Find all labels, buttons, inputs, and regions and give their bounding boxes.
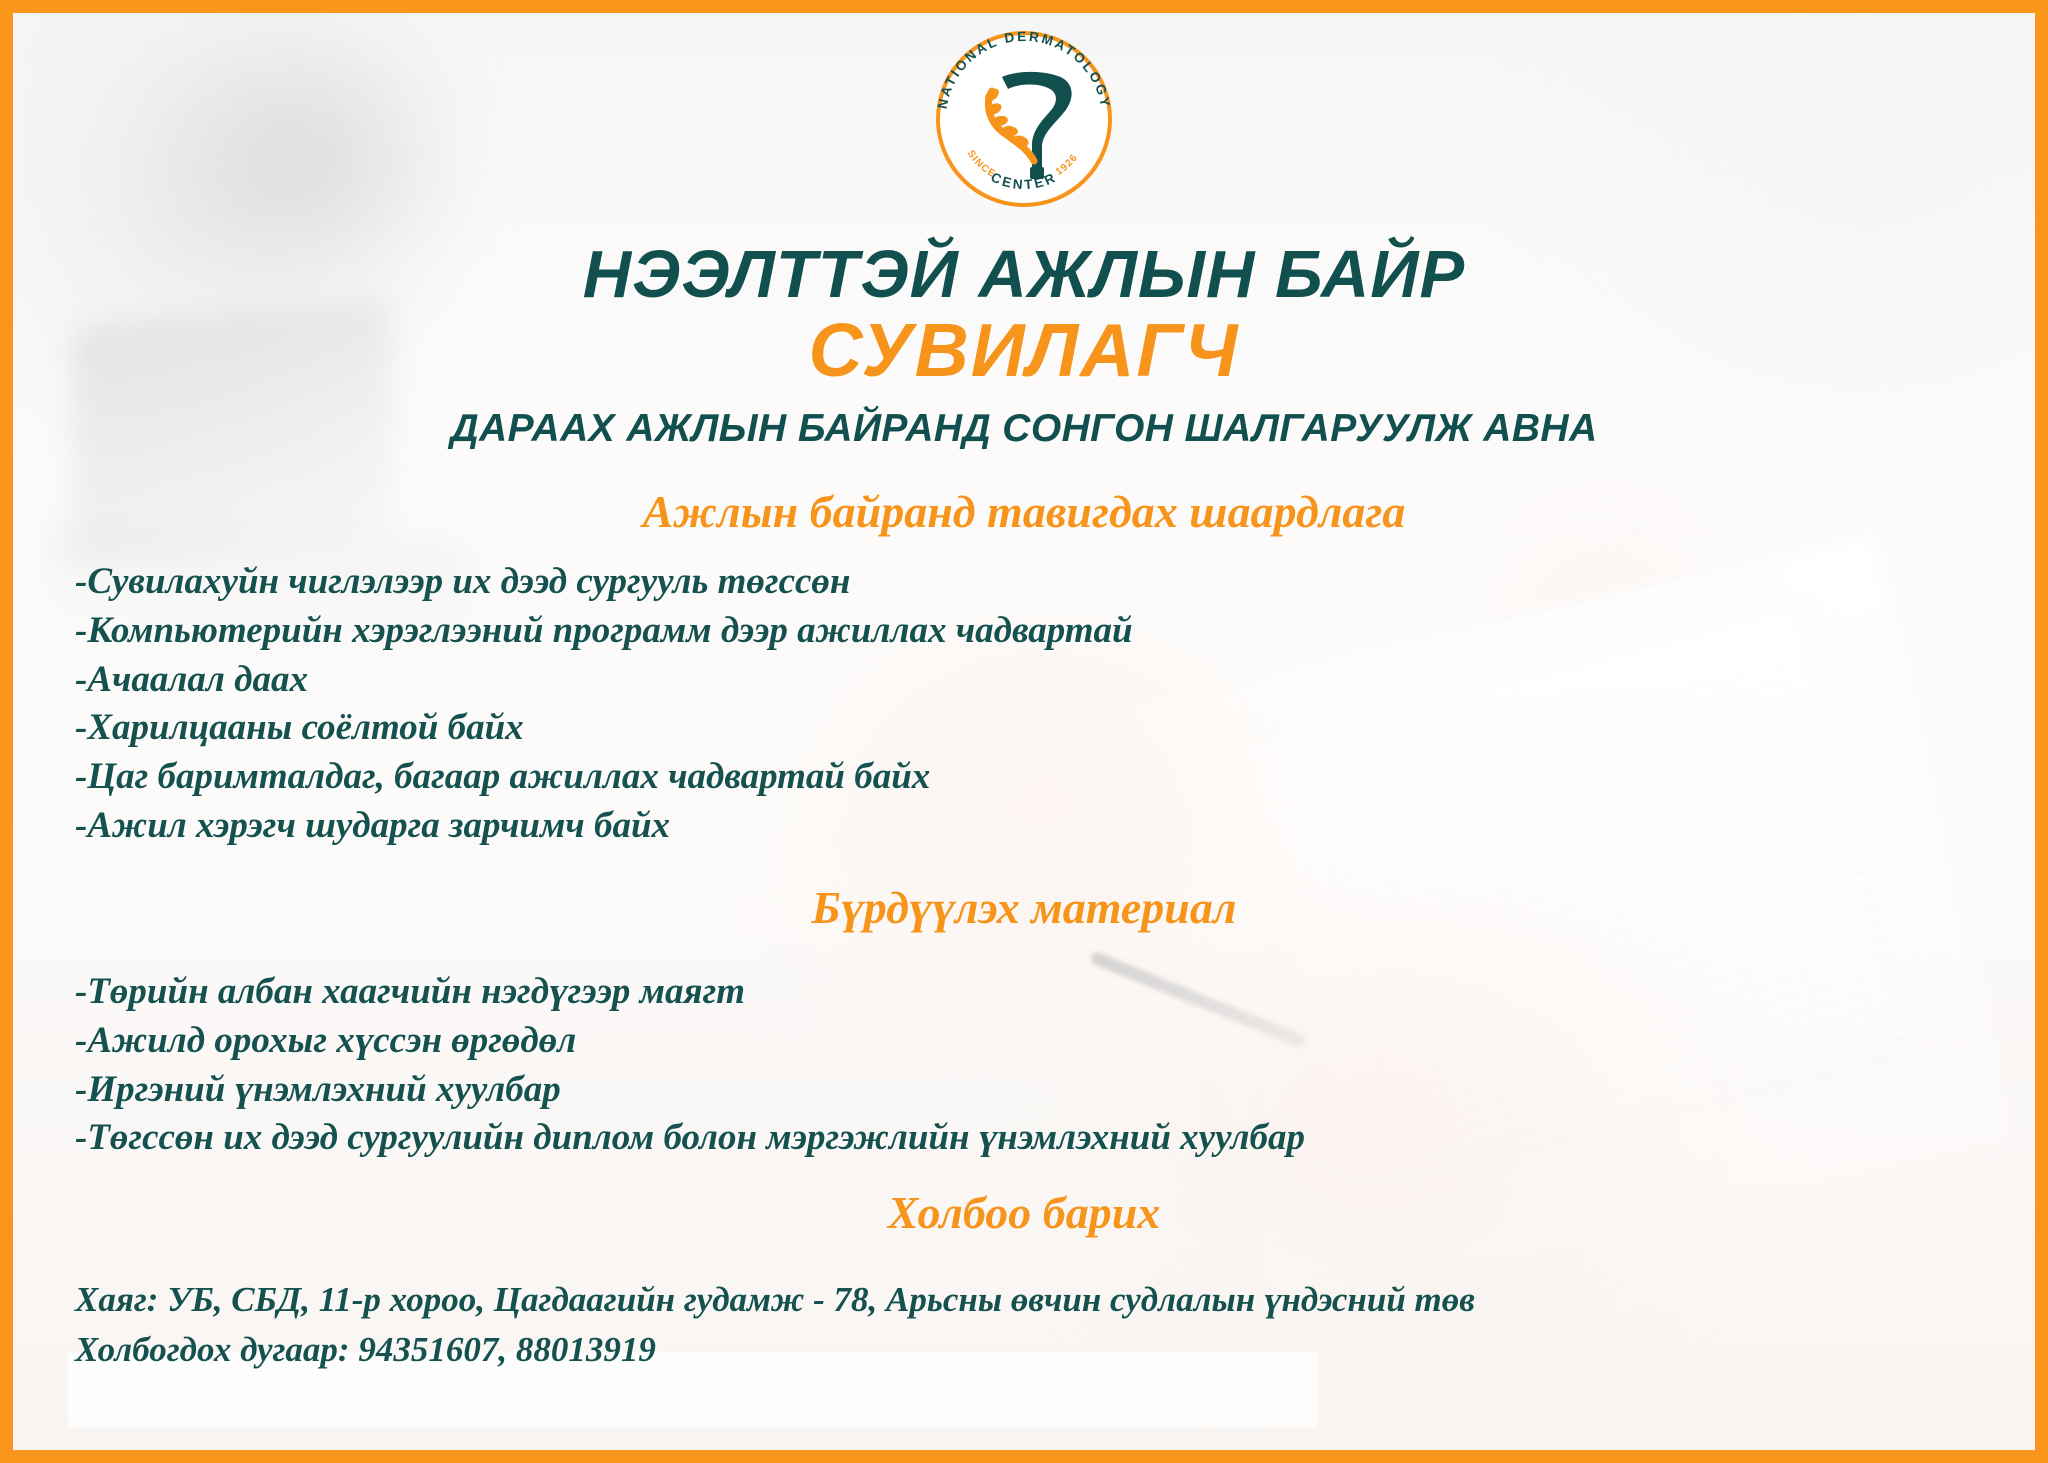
job-posting-poster: NATIONAL DERMATOLOGY CENTER SINCE 1926 Н… [0,0,2048,1463]
contact-heading: Холбоо барих [13,1186,2035,1239]
contact-phone: Холбогдох дугаар: 94351607, 88013919 [75,1325,1475,1375]
list-item: -Сувилахуйн чиглэлээр их дээд сургууль т… [75,558,1133,607]
list-item: -Төгссөн их дээд сургуулийн диплом болон… [75,1114,1305,1163]
list-item: -Компьютерийн хэрэглээний программ дээр … [75,607,1133,656]
headline-selection-notice: ДАРААХ АЖЛЫН БАЙРАНД СОНГОН ШАЛГАРУУЛЖ А… [13,407,2035,451]
list-item: -Ажил хэрэгч шударга зарчимч байх [75,802,1133,851]
list-item: -Цаг баримталдаг, багаар ажиллах чадварт… [75,753,1133,802]
organization-logo: NATIONAL DERMATOLOGY CENTER SINCE 1926 [924,19,1124,219]
list-item: -Ачаалал даах [75,656,1133,705]
list-item: -Харилцааны соёлтой байх [75,704,1133,753]
contact-address: Хаяг: УБ, СБД, 11-р хороо, Цагдаагийн гу… [75,1275,1475,1325]
poster-title-block: НЭЭЛТТЭЙ АЖЛЫН БАЙР СУВИЛАГЧ ДАРААХ АЖЛЫ… [13,241,2035,451]
headline-open-position: НЭЭЛТТЭЙ АЖЛЫН БАЙР [13,241,2035,309]
contact-details: Хаяг: УБ, СБД, 11-р хороо, Цагдаагийн гу… [75,1275,1475,1374]
materials-heading: Бүрдүүлэх материал [13,881,2035,934]
dermatology-center-emblem-icon: NATIONAL DERMATOLOGY CENTER SINCE 1926 [924,19,1124,219]
headline-job-role: СУВИЛАГЧ [13,311,2035,391]
materials-list: -Төрийн албан хаагчийн нэгдүгээр маягт -… [75,968,1305,1163]
list-item: -Ажилд орохыг хүссэн өргөдөл [75,1017,1305,1066]
list-item: -Иргэний үнэмлэхний хуулбар [75,1066,1305,1115]
requirements-heading: Ажлын байранд тавигдах шаардлага [13,485,2035,538]
list-item: -Төрийн албан хаагчийн нэгдүгээр маягт [75,968,1305,1017]
requirements-list: -Сувилахуйн чиглэлээр их дээд сургууль т… [75,558,1133,851]
